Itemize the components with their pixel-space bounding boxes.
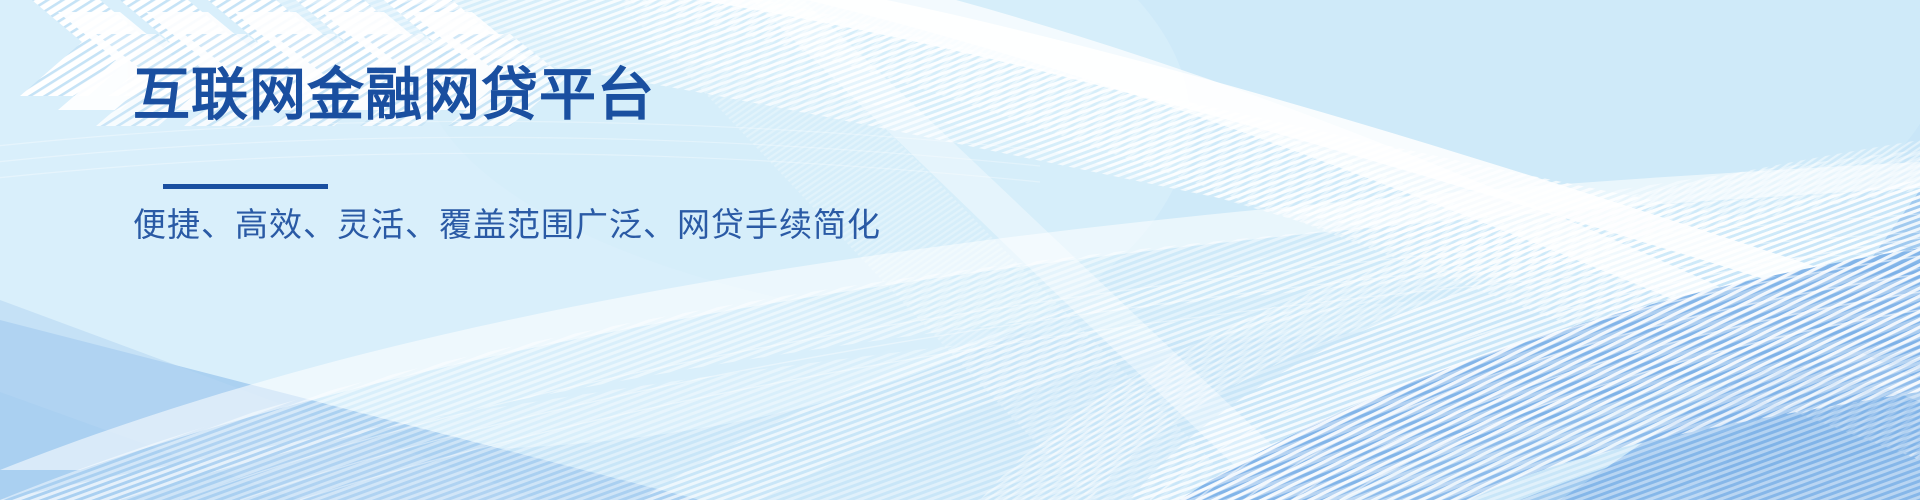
banner-headline: 互联网金融网贷平台 [133, 66, 655, 126]
headline-divider [163, 184, 328, 189]
hero-banner: 互联网金融网贷平台 便捷、高效、灵活、覆盖范围广泛、网贷手续简化 [0, 0, 1920, 500]
banner-subline: 便捷、高效、灵活、覆盖范围广泛、网贷手续简化 [133, 204, 881, 245]
banner-content: 互联网金融网贷平台 便捷、高效、灵活、覆盖范围广泛、网贷手续简化 [0, 0, 1920, 500]
